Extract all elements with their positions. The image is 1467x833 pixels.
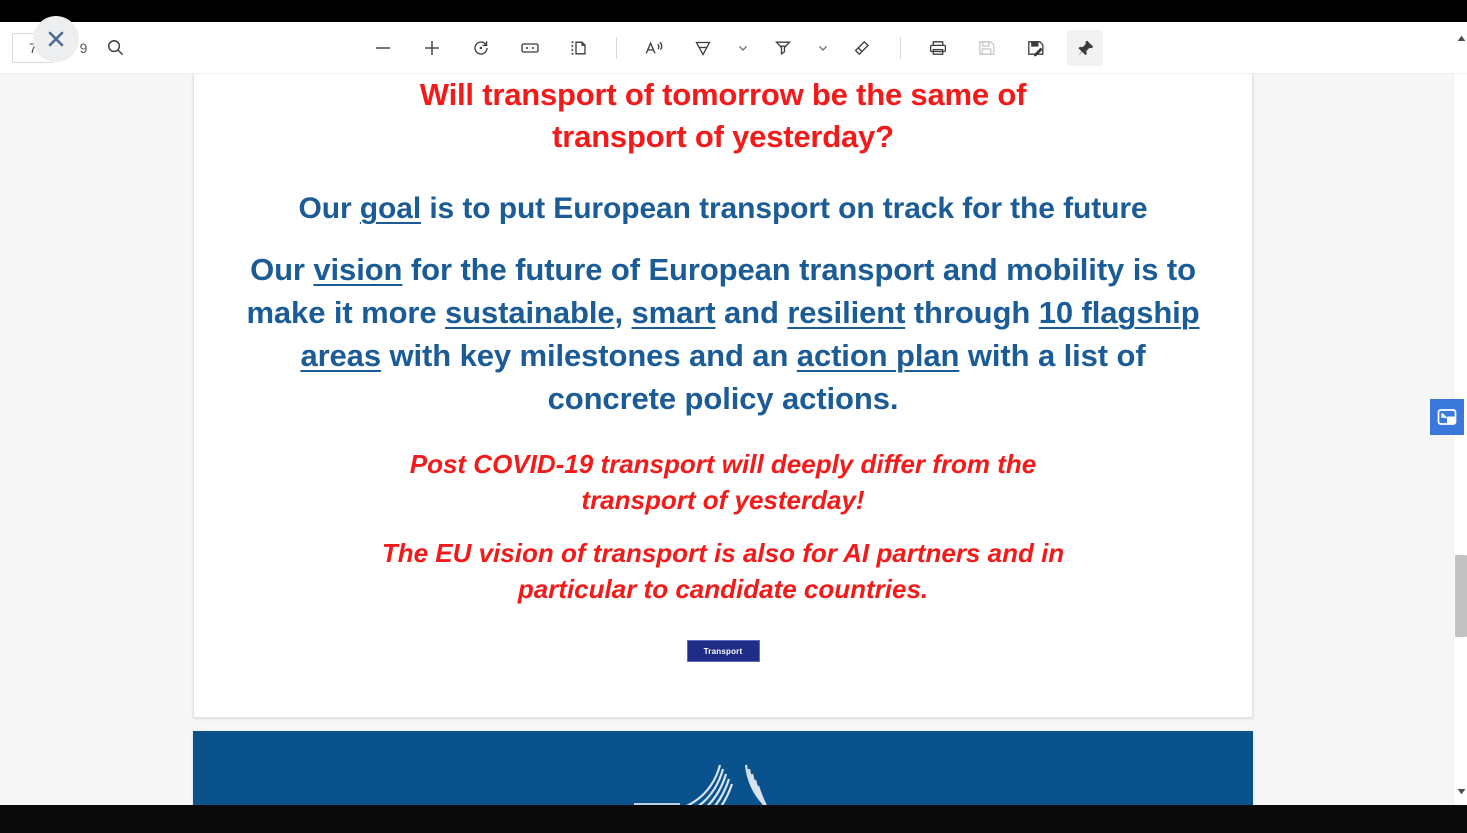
post-covid-line-2: transport of yesterday! [232, 482, 1214, 518]
print-icon[interactable] [920, 30, 956, 66]
pdf-page-8 [193, 731, 1253, 805]
post-covid-line-1: Post COVID-19 transport will deeply diff… [232, 446, 1214, 482]
slide-heading-line-2: transport of yesterday? [232, 116, 1214, 158]
draw-icon[interactable] [765, 30, 801, 66]
vision-underlined-smart: smart [632, 295, 716, 330]
goal-text-after: is to put European transport on track fo… [421, 192, 1147, 225]
vision-underlined-vision: vision [313, 252, 402, 287]
draw-chevron-down-icon[interactable] [814, 31, 832, 65]
save-icon[interactable] [969, 30, 1005, 66]
vision-underlined-resilient: resilient [787, 295, 905, 330]
zoom-out-icon[interactable] [365, 30, 401, 66]
toolbar-divider-2 [900, 37, 901, 59]
bottom-chrome-bar [0, 805, 1467, 833]
toolbar-center-group [0, 30, 1467, 66]
european-commission-logo [628, 755, 818, 805]
search-icon[interactable] [97, 30, 133, 66]
save-as-icon[interactable] [1018, 30, 1054, 66]
page-view-icon[interactable] [561, 30, 597, 66]
scroll-down-arrow-icon[interactable] [1454, 783, 1467, 799]
highlight-icon[interactable] [685, 30, 721, 66]
slide-content: Will transport of tomorrow be the same o… [232, 74, 1214, 662]
vision-text-4: and [715, 295, 787, 330]
vision-text-1: Our [250, 252, 313, 287]
vision-text-5: through [905, 295, 1038, 330]
vision-underlined-action-plan: action plan [797, 338, 960, 373]
eu-commission-banner [193, 731, 1253, 805]
eu-vision-line-2: particular to candidate countries. [232, 571, 1214, 607]
pdf-toolbar: 7 of 9 [0, 22, 1467, 74]
scroll-up-arrow-icon[interactable] [1454, 30, 1467, 46]
pin-icon[interactable] [1067, 30, 1103, 66]
top-chrome-bar [0, 0, 1467, 22]
scrollbar-thumb[interactable] [1455, 555, 1467, 637]
transport-logo-badge: Transport [687, 640, 760, 662]
goal-underlined-term: goal [360, 192, 421, 225]
read-aloud-icon[interactable] [636, 30, 672, 66]
fit-to-page-icon[interactable] [512, 30, 548, 66]
vision-text-3: , [615, 295, 632, 330]
goal-text-before: Our [299, 192, 360, 225]
rotate-icon[interactable] [463, 30, 499, 66]
eraser-icon[interactable] [845, 30, 881, 66]
goal-paragraph: Our goal is to put European transport on… [232, 187, 1214, 230]
pdf-viewer-canvas[interactable]: Will transport of tomorrow be the same o… [0, 74, 1453, 805]
close-icon[interactable] [33, 16, 79, 62]
vision-paragraph: Our vision for the future of European tr… [232, 248, 1214, 420]
vertical-scrollbar[interactable] [1453, 74, 1467, 805]
slide-heading-line-1: Will transport of tomorrow be the same o… [232, 74, 1214, 116]
eu-vision-line-1: The EU vision of transport is also for A… [232, 535, 1214, 571]
app-root: 7 of 9 [0, 0, 1467, 833]
vision-underlined-sustainable: sustainable [445, 295, 614, 330]
toolbar-divider [616, 37, 617, 59]
highlight-chevron-down-icon[interactable] [734, 31, 752, 65]
vision-text-6: with key milestones and an [381, 338, 797, 373]
zoom-in-icon[interactable] [414, 30, 450, 66]
pdf-page-7: Will transport of tomorrow be the same o… [193, 74, 1253, 718]
picture-in-picture-icon[interactable] [1430, 399, 1464, 435]
